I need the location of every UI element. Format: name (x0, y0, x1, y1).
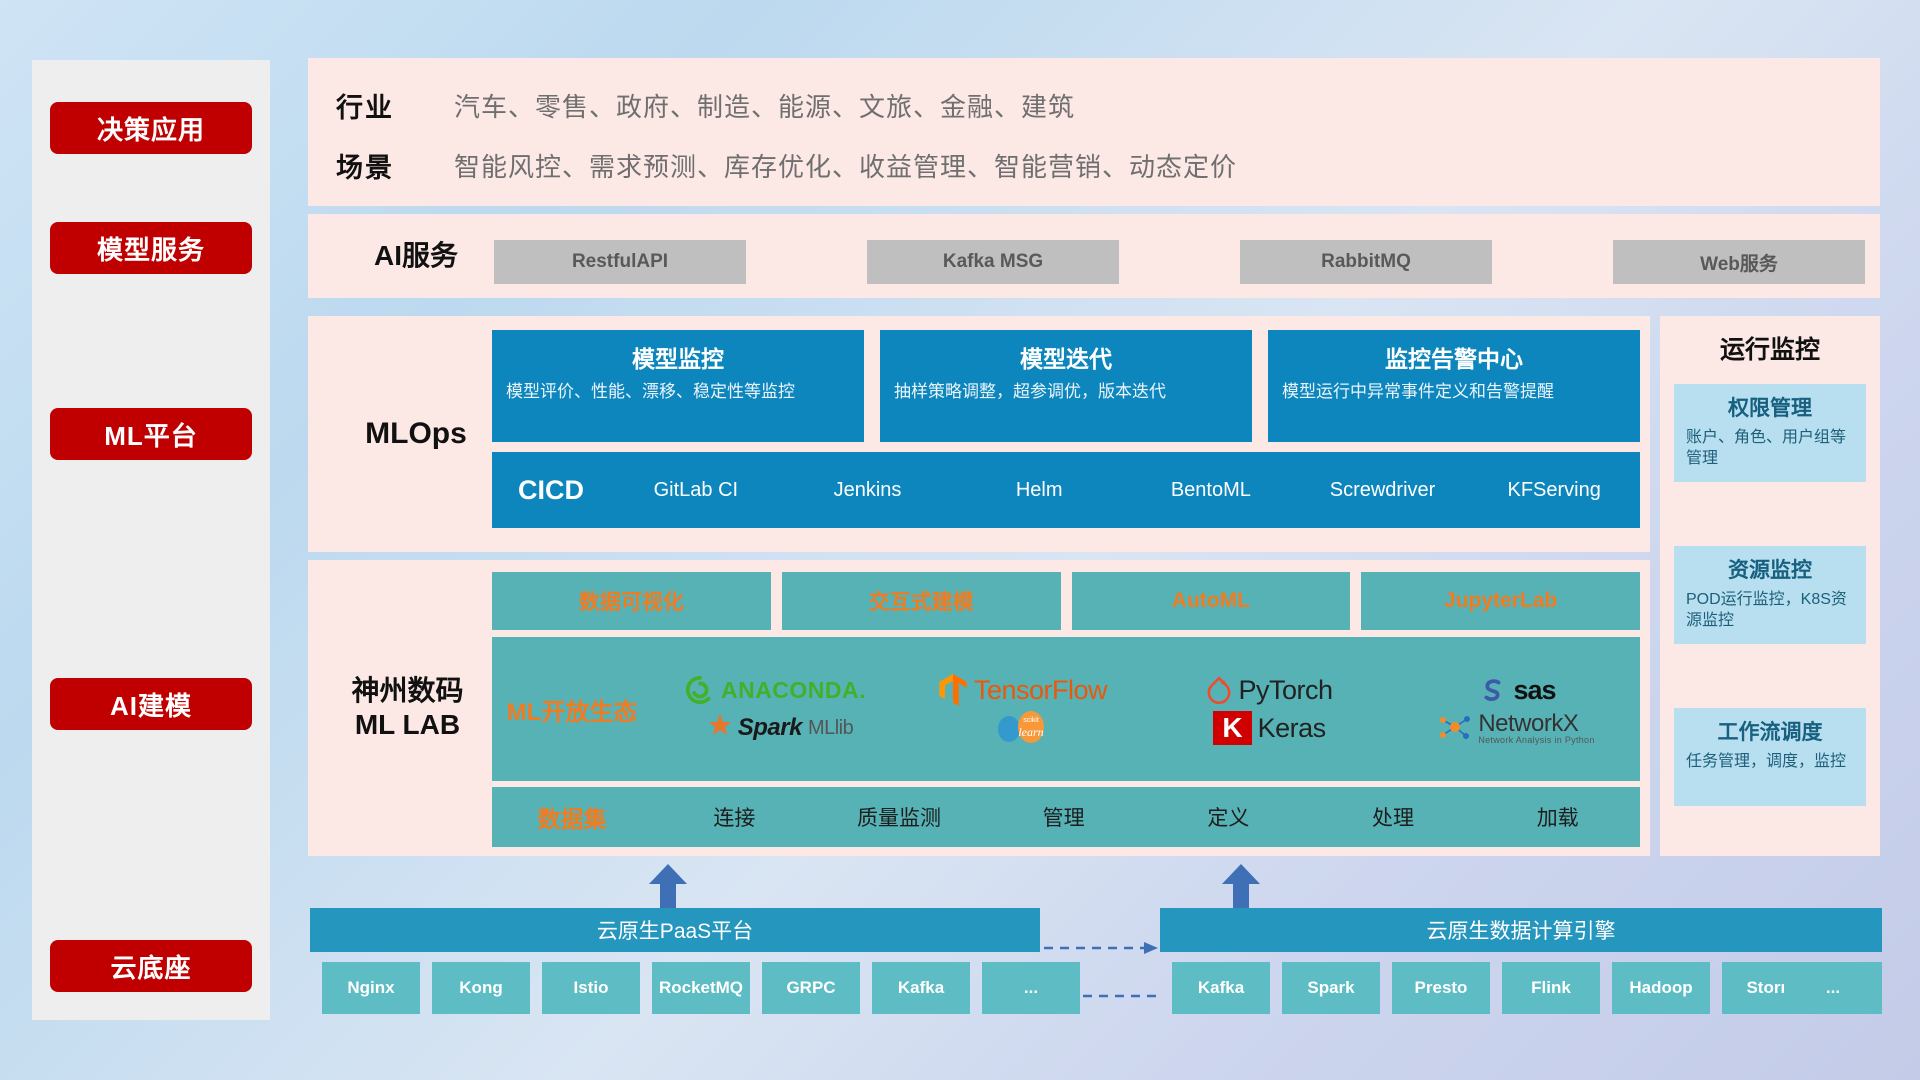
keras-logo-text: Keras (1258, 713, 1326, 744)
dataset-item-quality[interactable]: 质量监测 (817, 802, 982, 832)
svg-text:learn: learn (1018, 725, 1043, 739)
mlops-label: MLOps (336, 316, 496, 552)
mlops-card-alert-center[interactable]: 监控告警中心 模型运行中异常事件定义和告警提醒 (1268, 330, 1640, 442)
monitoring-card-workflow[interactable]: 工作流调度 任务管理，调度，监控 (1674, 708, 1866, 806)
ai-service-chip-kafka-msg[interactable]: Kafka MSG (867, 240, 1119, 284)
ml-ecosystem-title: ML开放生态 (492, 692, 652, 727)
architecture-diagram: 决策应用 模型服务 ML平台 AI建模 云底座 行业 汽车、零售、政府、制造、能… (0, 0, 1920, 1080)
monitoring-card-desc: POD运行监控，K8S资源监控 (1686, 589, 1854, 631)
monitoring-card-title: 资源监控 (1686, 554, 1854, 584)
ml-lab-label-line1: 神州数码 (351, 674, 463, 708)
ml-lab-label: 神州数码 ML LAB (320, 560, 495, 856)
arrow-up-engine-icon (1218, 862, 1264, 908)
cloud-chip-kong[interactable]: Kong (432, 962, 530, 1014)
scikit-learn-logo: scikit learn (995, 709, 1051, 747)
cicd-item-kfserving[interactable]: KFServing (1468, 478, 1640, 503)
scikit-learn-icon: scikit learn (995, 709, 1051, 747)
cicd-label: CICD (492, 475, 610, 506)
cloud-chip-nginx[interactable]: Nginx (322, 962, 420, 1014)
monitoring-card-resources[interactable]: 资源监控 POD运行监控，K8S资源监控 (1674, 546, 1866, 644)
networkx-logo-text: NetworkX (1478, 712, 1594, 736)
sas-logo-text: sas (1513, 675, 1555, 706)
tool-chip-data-visualization[interactable]: 数据可视化 (492, 572, 771, 630)
cloud-chip-grpc[interactable]: GRPC (762, 962, 860, 1014)
industry-value: 汽车、零售、政府、制造、能源、文旅、金融、建筑 (454, 87, 1075, 124)
mlops-card-desc: 抽样策略调整，超参调优，版本迭代 (894, 381, 1238, 404)
pytorch-logo: PyTorch (1206, 675, 1332, 706)
cicd-item-helm[interactable]: Helm (953, 478, 1125, 503)
dataset-item-manage[interactable]: 管理 (981, 802, 1146, 832)
layer-chip-ml-platform[interactable]: ML平台 (50, 408, 252, 460)
keras-logo: K Keras (1213, 711, 1325, 745)
arrow-up-paas-icon (645, 862, 691, 908)
ml-ecosystem-box: ML开放生态 ANACONDA. TensorFlow (492, 637, 1640, 781)
dataset-item-define[interactable]: 定义 (1146, 802, 1311, 832)
monitoring-card-title: 工作流调度 (1686, 716, 1854, 746)
tensorflow-icon (938, 674, 968, 706)
mlops-card-title: 监控告警中心 (1282, 340, 1626, 374)
scenario-row: 场景 智能风控、需求预测、库存优化、收益管理、智能营销、动态定价 (336, 146, 1237, 185)
layer-rail: 决策应用 模型服务 ML平台 AI建模 云底座 (32, 60, 270, 1020)
sas-logo: sas (1477, 675, 1555, 706)
mlops-card-model-monitoring[interactable]: 模型监控 模型评价、性能、漂移、稳定性等监控 (492, 330, 864, 442)
layer-chip-decision[interactable]: 决策应用 (50, 102, 252, 154)
engine-chip-flink[interactable]: Flink (1502, 962, 1600, 1014)
mllib-logo-text: MLlib (808, 717, 853, 740)
engine-chip-spark[interactable]: Spark (1282, 962, 1380, 1014)
cloud-chip-istio[interactable]: Istio (542, 962, 640, 1014)
scenario-key: 场景 (336, 146, 454, 185)
spark-logo-text: Spark (738, 714, 802, 742)
cicd-bar: CICD GitLab CI Jenkins Helm BentoML Scre… (492, 452, 1640, 528)
mlops-card-desc: 模型运行中异常事件定义和告警提醒 (1282, 381, 1626, 404)
svg-text:scikit: scikit (1023, 717, 1039, 724)
industry-row: 行业 汽车、零售、政府、制造、能源、文旅、金融、建筑 (336, 86, 1075, 125)
ml-lab-tool-row: 数据可视化 交互式建模 AutoML JupyterLab (492, 572, 1640, 630)
mlops-card-title: 模型迭代 (894, 340, 1238, 374)
mlops-card-desc: 模型评价、性能、漂移、稳定性等监控 (506, 381, 850, 404)
monitoring-card-desc: 账户、角色、用户组等管理 (1686, 427, 1854, 469)
engine-chip-hadoop[interactable]: Hadoop (1612, 962, 1710, 1014)
networkx-logo-subtitle: Network Analysis in Python (1478, 736, 1594, 745)
engine-chip-presto[interactable]: Presto (1392, 962, 1490, 1014)
tool-chip-interactive-modeling[interactable]: 交互式建模 (782, 572, 1061, 630)
dataset-row: 数据集 连接 质量监测 管理 定义 处理 加载 (492, 787, 1640, 847)
cloud-chip-rocketmq[interactable]: RocketMQ (652, 962, 750, 1014)
tool-chip-automl[interactable]: AutoML (1072, 572, 1351, 630)
dataset-label: 数据集 (492, 800, 652, 834)
anaconda-logo-text: ANACONDA. (721, 677, 866, 704)
mlops-card-title: 模型监控 (506, 340, 850, 374)
anaconda-icon (685, 675, 715, 705)
ai-service-chip-web-service[interactable]: Web服务 (1613, 240, 1865, 284)
ai-service-chip-restfulapi[interactable]: RestfulAPI (494, 240, 746, 284)
cloud-engine-bar[interactable]: 云原生数据计算引擎 (1160, 908, 1882, 952)
dataset-item-load[interactable]: 加载 (1475, 802, 1640, 832)
ai-service-chip-rabbitmq[interactable]: RabbitMQ (1240, 240, 1492, 284)
cicd-item-gitlab-ci[interactable]: GitLab CI (610, 478, 782, 503)
monitoring-title: 运行监控 (1660, 322, 1880, 374)
spark-mllib-logo: Spark MLlib (698, 713, 854, 743)
dataset-item-process[interactable]: 处理 (1311, 802, 1476, 832)
layer-chip-ai-modeling[interactable]: AI建模 (50, 678, 252, 730)
anaconda-logo: ANACONDA. (685, 675, 866, 705)
ml-ecosystem-logo-grid: ANACONDA. TensorFlow PyTorch (652, 671, 1640, 747)
ml-lab-label-line2: ML LAB (351, 708, 463, 742)
keras-mark-icon: K (1213, 711, 1251, 745)
ai-service-label: AI服务 (336, 214, 496, 298)
business-band: 行业 汽车、零售、政府、制造、能源、文旅、金融、建筑 场景 智能风控、需求预测、… (308, 58, 1880, 206)
cicd-item-jenkins[interactable]: Jenkins (782, 478, 954, 503)
monitoring-card-title: 权限管理 (1686, 392, 1854, 422)
monitoring-card-permissions[interactable]: 权限管理 账户、角色、用户组等管理 (1674, 384, 1866, 482)
cicd-item-bentoml[interactable]: BentoML (1125, 478, 1297, 503)
layer-chip-cloud-base[interactable]: 云底座 (50, 940, 252, 992)
cloud-paas-bar[interactable]: 云原生PaaS平台 (310, 908, 1040, 952)
cicd-item-screwdriver[interactable]: Screwdriver (1297, 478, 1469, 503)
cloud-chip-kafka[interactable]: Kafka (872, 962, 970, 1014)
engine-chip-kafka[interactable]: Kafka (1172, 962, 1270, 1014)
networkx-logo: NetworkX Network Analysis in Python (1438, 712, 1594, 745)
spark-icon (698, 713, 732, 743)
pytorch-icon (1206, 675, 1232, 705)
monitoring-card-desc: 任务管理，调度，监控 (1686, 751, 1854, 772)
layer-chip-model-service[interactable]: 模型服务 (50, 222, 252, 274)
industry-key: 行业 (336, 86, 454, 125)
engine-chip-more[interactable]: ... (1784, 962, 1882, 1014)
dataset-item-connect[interactable]: 连接 (652, 802, 817, 832)
mlops-card-model-iteration[interactable]: 模型迭代 抽样策略调整，超参调优，版本迭代 (880, 330, 1252, 442)
pytorch-logo-text: PyTorch (1238, 675, 1332, 706)
networkx-icon (1438, 713, 1472, 743)
tensorflow-logo-text: TensorFlow (974, 675, 1107, 706)
scenario-value: 智能风控、需求预测、库存优化、收益管理、智能营销、动态定价 (454, 147, 1237, 184)
cloud-chip-paas-more[interactable]: ... (982, 962, 1080, 1014)
tool-chip-jupyterlab[interactable]: JupyterLab (1361, 572, 1640, 630)
tensorflow-logo: TensorFlow (938, 674, 1107, 706)
sas-icon (1477, 675, 1507, 705)
